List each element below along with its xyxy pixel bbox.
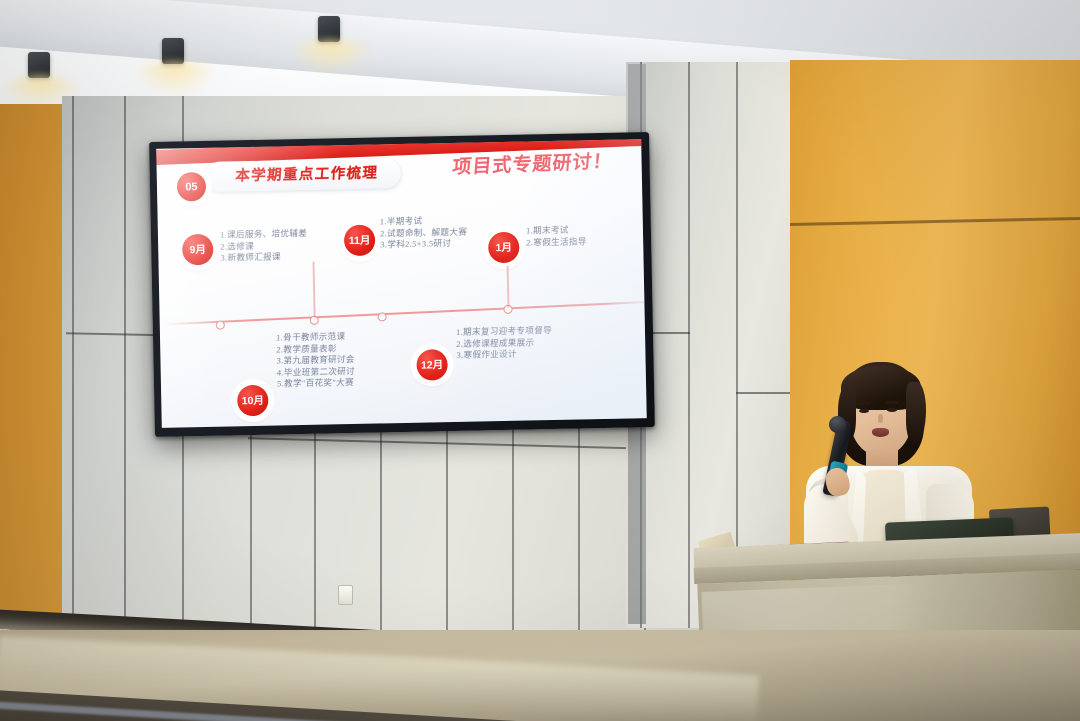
slide-section-badge: 05 (177, 172, 207, 202)
slide-month-badge-oct: 10月 (237, 385, 269, 417)
presenter-eye (887, 408, 897, 412)
slide-month-badge-nov: 11月 (344, 225, 376, 257)
slide-timeline-axis (164, 300, 647, 325)
panel-seam (124, 96, 126, 636)
spotlight-glow (288, 40, 374, 74)
slide-month-items-nov: 1.半期考试 2.试题命制、解题大赛 3.学科2.5+3.5研讨 (380, 215, 468, 252)
ceiling-spotlight-icon (318, 16, 340, 42)
timeline-connector (507, 266, 509, 308)
slide-item: 1.骨干教师示范课 (276, 331, 355, 344)
presenter-eyebrow (886, 401, 898, 404)
spotlight-glow (132, 62, 218, 96)
presenter-eye (859, 409, 869, 413)
slide-month-items-jan: 1.期末考试 2.寒假生活指导 (526, 224, 587, 248)
presentation-screen[interactable]: 05 本学期重点工作梳理 项目式专题研讨！ 9月 1.课后服务、培优辅差 2.选… (149, 132, 655, 437)
presenter-mouth (872, 428, 889, 437)
timeline-node (378, 312, 387, 321)
panel-seam (736, 62, 738, 628)
slide-month-badge-jan: 1月 (488, 232, 520, 264)
ceiling-spotlight-icon (162, 38, 184, 64)
slide-item: 1.期末考试 (526, 224, 587, 237)
panel-seam (688, 62, 690, 628)
ceiling-spotlight-icon (28, 52, 50, 78)
wall-switch[interactable] (338, 585, 353, 605)
slide-item: 3.学科2.5+3.5研讨 (380, 238, 468, 251)
slide-handwritten-note: 项目式专题研讨！ (451, 146, 614, 179)
slide-canvas: 05 本学期重点工作梳理 项目式专题研讨！ 9月 1.课后服务、培优辅差 2.选… (156, 139, 647, 428)
slide-item: 3.新教师汇报课 (220, 251, 308, 264)
timeline-node (216, 321, 225, 330)
slide-item: 5.教学"百花奖"大赛 (277, 377, 356, 390)
timeline-connector (313, 262, 316, 318)
slide-month-items-dec: 1.期末复习迎考专项督导 2.选修课程成果展示 3.寒假作业设计 (456, 325, 553, 362)
slide-month-items-sep: 1.课后服务、培优辅差 2.选修课 3.新教师汇报课 (220, 228, 308, 265)
slide-month-items-oct: 1.骨干教师示范课 2.教学质量表彰 3.第九届教育研讨会 4.毕业班第二次研讨… (276, 331, 355, 391)
slide-title: 本学期重点工作梳理 (216, 161, 398, 189)
presenter-nose (878, 414, 883, 423)
slide-item: 2.寒假生活指导 (526, 236, 587, 249)
slide-month-badge-dec: 12月 (416, 349, 448, 381)
conference-hall-scene: 05 本学期重点工作梳理 项目式专题研讨！ 9月 1.课后服务、培优辅差 2.选… (0, 0, 1080, 721)
slide-month-badge-sep: 9月 (182, 234, 214, 266)
slide-item: 3.寒假作业设计 (456, 348, 553, 362)
panel-seam (72, 96, 74, 636)
